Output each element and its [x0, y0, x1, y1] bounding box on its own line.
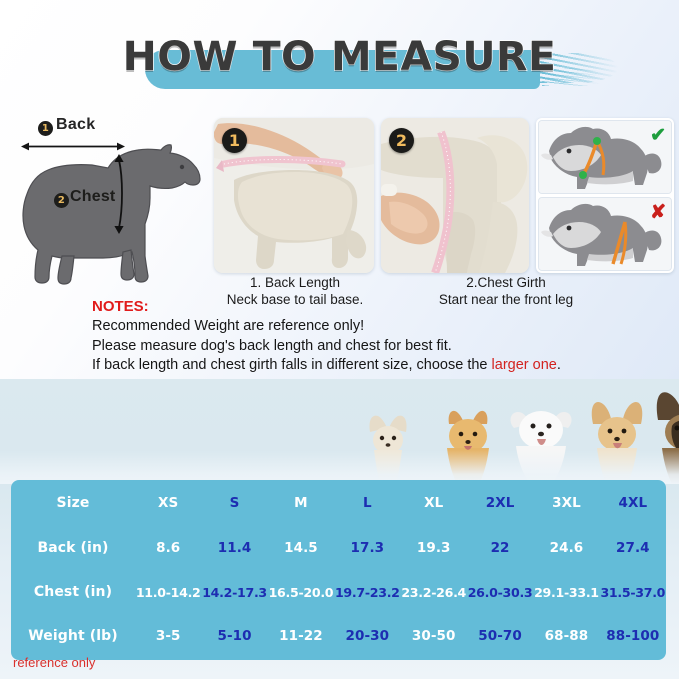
table-row-back: Back (in) 8.6 11.4 14.5 17.3 19.3 22 24.… — [11, 526, 666, 570]
notes-line-3-period: . — [557, 357, 561, 373]
back-4xl: 27.4 — [600, 540, 666, 556]
weight-4xl: 88-100 — [600, 628, 666, 644]
back-xs: 8.6 — [135, 540, 201, 556]
notes-line-1: Recommended Weight are reference only! — [92, 317, 652, 337]
notes-line-3-text: If back length and chest girth falls in … — [92, 357, 492, 373]
notes-line-3-highlight: larger one — [492, 357, 557, 373]
chest-s: 14.2-17.3 — [201, 585, 267, 600]
cross-icon: ✘ — [650, 201, 666, 224]
chest-xs: 11.0-14.2 — [135, 585, 201, 600]
notes-block: NOTES: Recommended Weight are reference … — [92, 297, 652, 376]
back-length-arrow-icon — [21, 142, 125, 151]
chest-3xl: 29.1-33.1 — [533, 585, 599, 600]
table-header-3xl: 3XL — [533, 495, 599, 511]
chest-2xl: 26.0-30.3 — [467, 585, 533, 600]
back-xl: 19.3 — [401, 540, 467, 556]
chest-xl: 23.2-26.4 — [401, 585, 467, 600]
table-row-weight: Weight (lb) 3-5 5-10 11-22 20-30 30-50 5… — [11, 614, 666, 658]
weight-2xl: 50-70 — [467, 628, 533, 644]
table-row-chest: Chest (in) 11.0-14.2 14.2-17.3 16.5-20.0… — [11, 570, 666, 614]
size-chart-section: Size XS S M L XL 2XL 3XL 4XL Back (in) 8… — [0, 379, 679, 679]
photo-strip-fade — [0, 450, 679, 484]
back-3xl: 24.6 — [533, 540, 599, 556]
notes-line-3: If back length and chest girth falls in … — [92, 356, 652, 376]
notes-line-2: Please measure dog's back length and che… — [92, 337, 652, 357]
how-to-measure-section: HOW TO MEASURE 1Back 2Chest — [0, 0, 679, 379]
caption-back-title: 1. Back Length — [200, 274, 390, 291]
check-icon: ✔ — [650, 124, 666, 147]
measurement-diagram: 1Back 2Chest — [4, 116, 210, 288]
fit-correct-example: ✔ — [538, 120, 672, 194]
back-l: 17.3 — [334, 540, 400, 556]
fit-incorrect-example: ✘ — [538, 197, 672, 271]
photo-fit-examples: ✔ ✘ — [536, 118, 674, 273]
photo-chest-girth: 2 — [381, 118, 529, 273]
chest-m: 16.5-20.0 — [268, 585, 334, 600]
photo-badge-1: 1 — [222, 128, 247, 153]
badge-1: 1 — [38, 121, 53, 136]
reference-only-footnote: reference only — [13, 655, 95, 670]
table-header-2xl: 2XL — [467, 495, 533, 511]
weight-m: 11-22 — [268, 628, 334, 644]
notes-title: NOTES: — [92, 297, 652, 317]
weight-l: 20-30 — [334, 628, 400, 644]
table-header-m: M — [268, 495, 334, 511]
dog-silhouette-icon — [4, 136, 210, 288]
caption-chest-title: 2.Chest Girth — [400, 274, 612, 291]
table-header-xs: XS — [135, 495, 201, 511]
chest-4xl: 31.5-37.0 — [600, 585, 666, 600]
table-row-label-size: Size — [11, 495, 135, 511]
table-header-s: S — [201, 495, 267, 511]
badge-2: 2 — [54, 193, 69, 208]
weight-3xl: 68-88 — [533, 628, 599, 644]
photo-back-length: 1 — [214, 118, 374, 273]
table-header-row: Size XS S M L XL 2XL 3XL 4XL — [11, 480, 666, 526]
dog-photo-strip — [0, 379, 679, 484]
table-header-4xl: 4XL — [600, 495, 666, 511]
weight-s: 5-10 — [201, 628, 267, 644]
photo-badge-2: 2 — [389, 128, 414, 153]
chest-label-text: Chest — [70, 188, 115, 205]
back-s: 11.4 — [201, 540, 267, 556]
back-measure-label: 1Back — [38, 116, 95, 136]
chest-measure-label: 2Chest — [54, 188, 115, 208]
back-label-text: Back — [56, 116, 95, 133]
weight-xl: 30-50 — [401, 628, 467, 644]
table-row-label-back: Back (in) — [11, 540, 135, 556]
chest-l: 19.7-23.2 — [334, 585, 400, 600]
table-header-xl: XL — [401, 495, 467, 511]
table-header-l: L — [334, 495, 400, 511]
title-banner: HOW TO MEASURE — [0, 34, 679, 96]
back-2xl: 22 — [467, 540, 533, 556]
page-title: HOW TO MEASURE — [0, 34, 679, 80]
back-m: 14.5 — [268, 540, 334, 556]
size-chart-table: Size XS S M L XL 2XL 3XL 4XL Back (in) 8… — [11, 480, 666, 660]
table-row-label-chest: Chest (in) — [11, 584, 135, 600]
table-row-label-weight: Weight (lb) — [11, 628, 135, 644]
weight-xs: 3-5 — [135, 628, 201, 644]
